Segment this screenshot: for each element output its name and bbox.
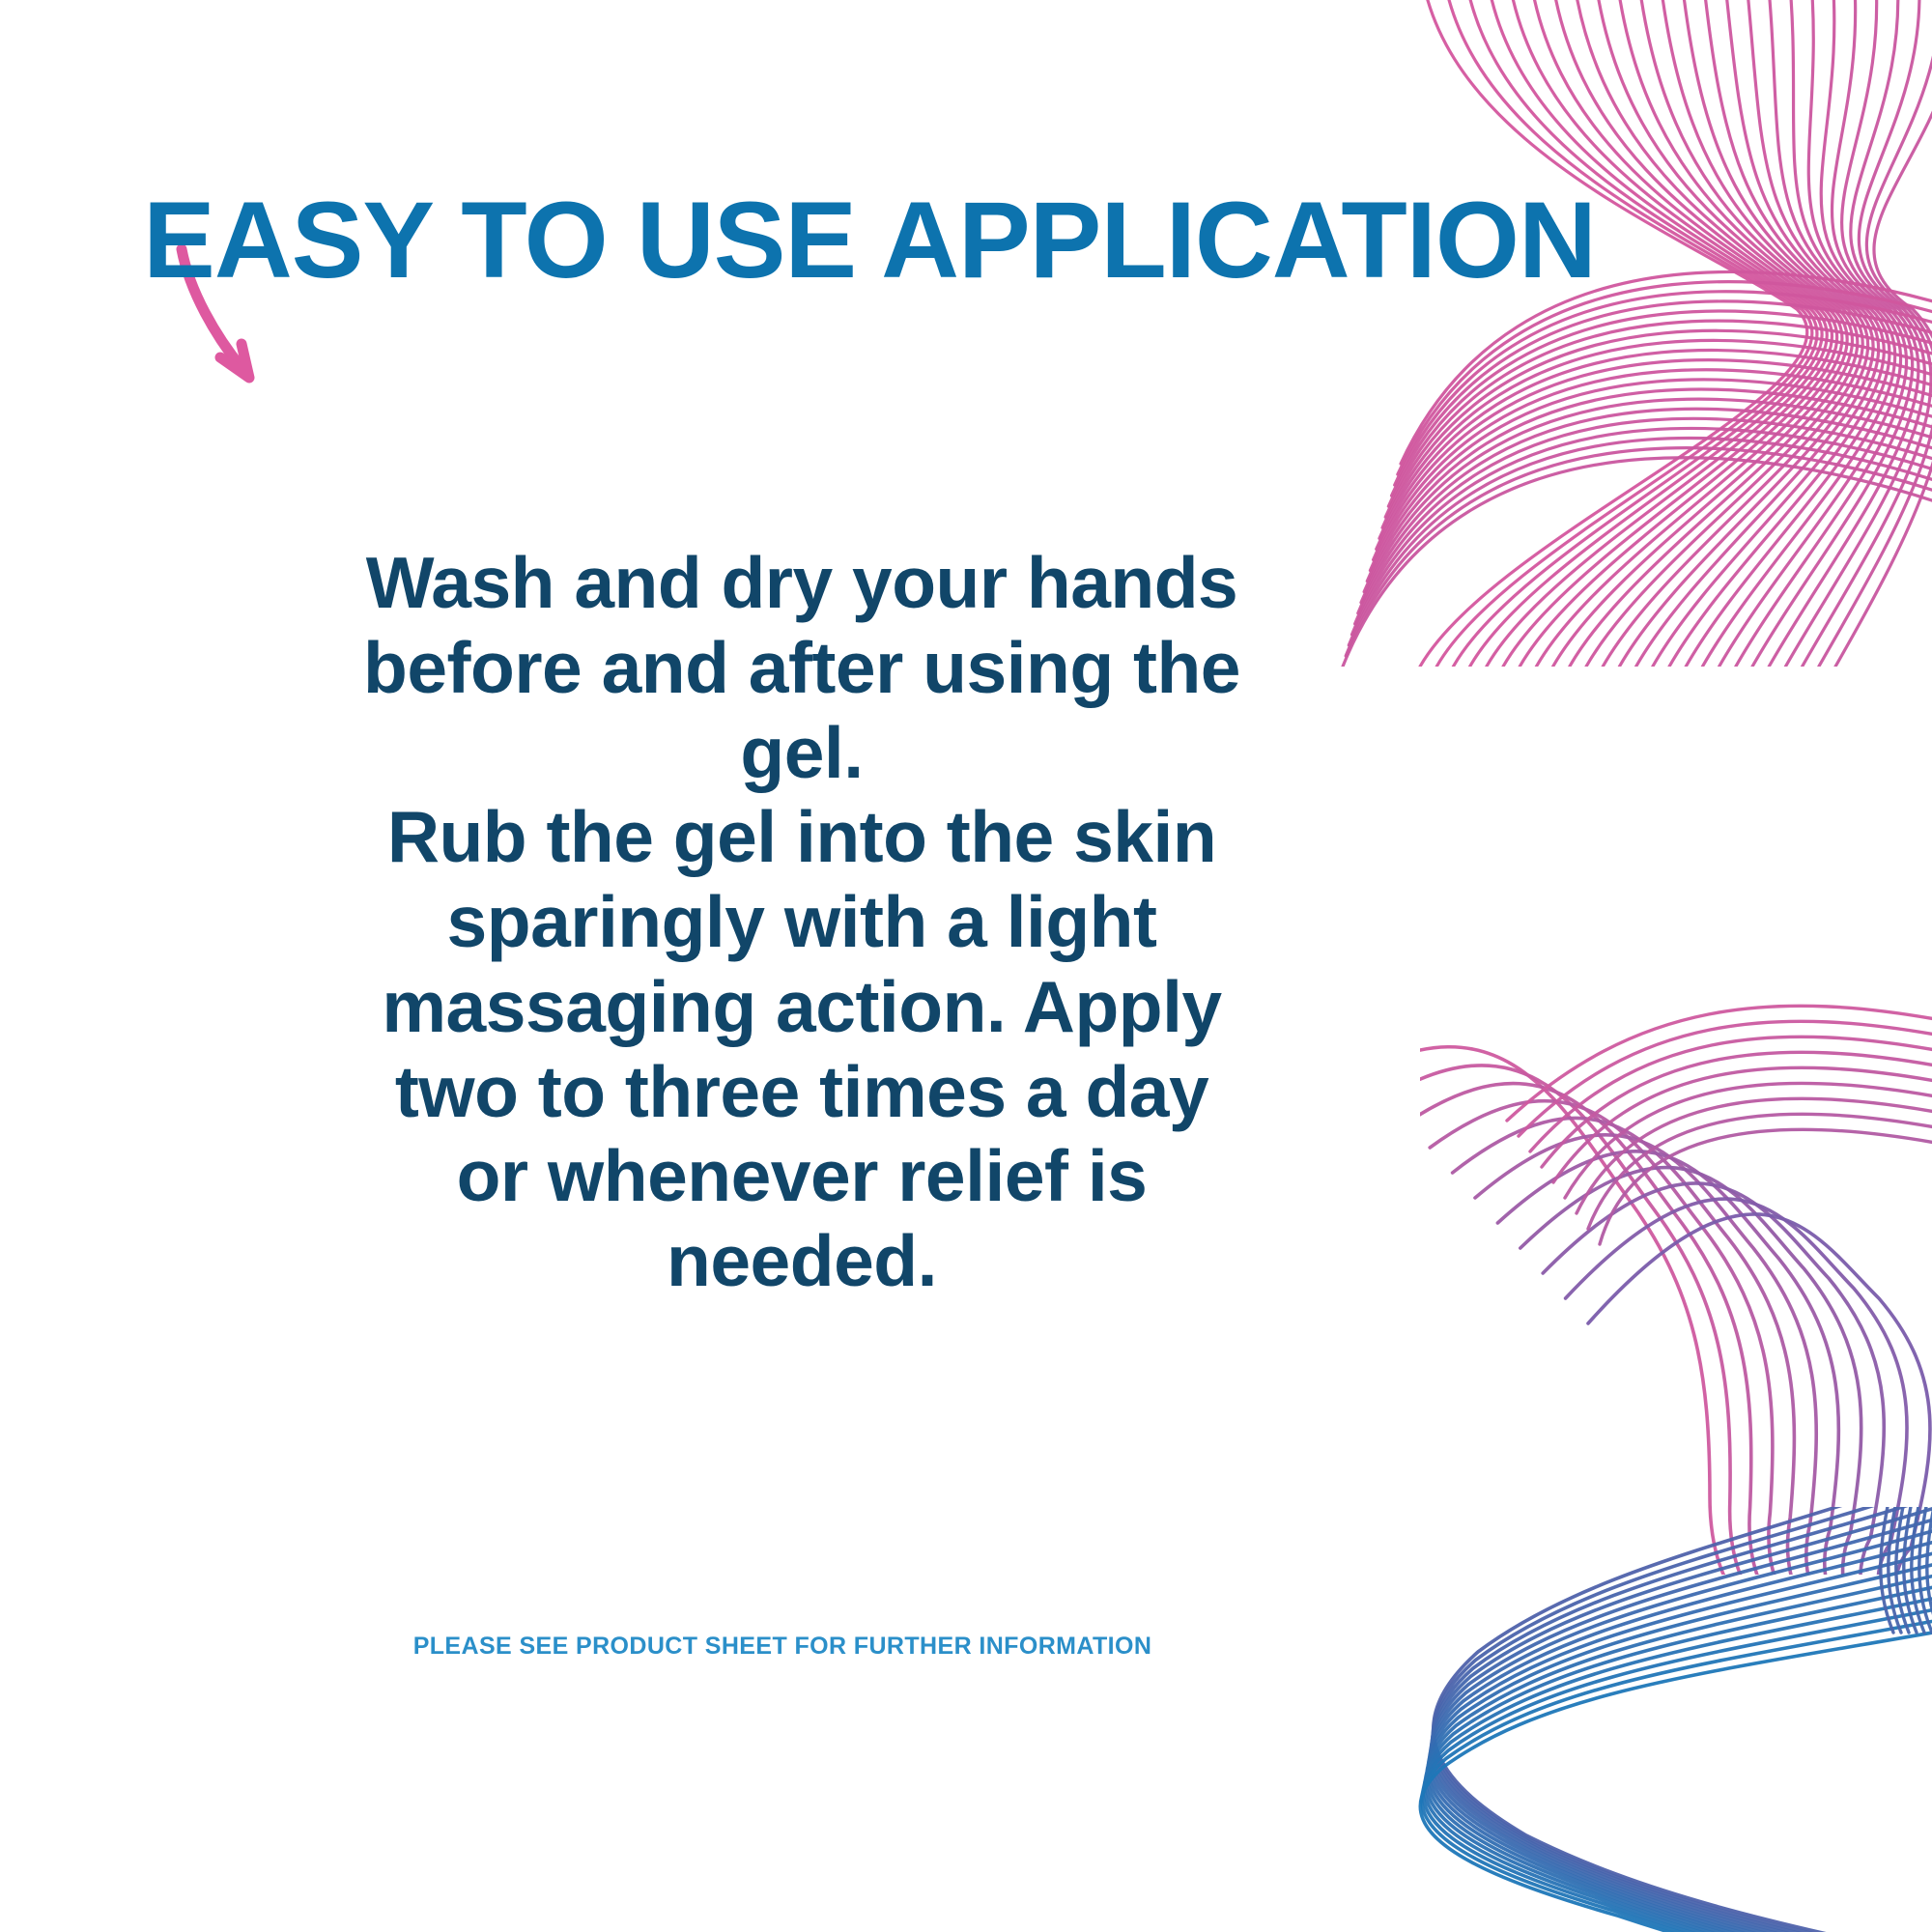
poster-canvas: EASY TO USE APPLICATION Wash and dry you… [0,0,1932,1932]
wave-lines-bottom-right-decoration [1352,1507,1932,1932]
instruction-paragraph-2: Rub the gel into the skin sparingly with… [357,795,1246,1304]
spirograph-top-right-decoration [1217,0,1932,667]
wave-lines-middle-right-decoration [1420,956,1932,1575]
footer-note: PLEASE SEE PRODUCT SHEET FOR FURTHER INF… [0,1633,1565,1661]
instruction-paragraph-1: Wash and dry your hands before and after… [357,541,1246,795]
page-title: EASY TO USE APPLICATION [0,186,1739,295]
instructions-block: Wash and dry your hands before and after… [357,541,1246,1304]
